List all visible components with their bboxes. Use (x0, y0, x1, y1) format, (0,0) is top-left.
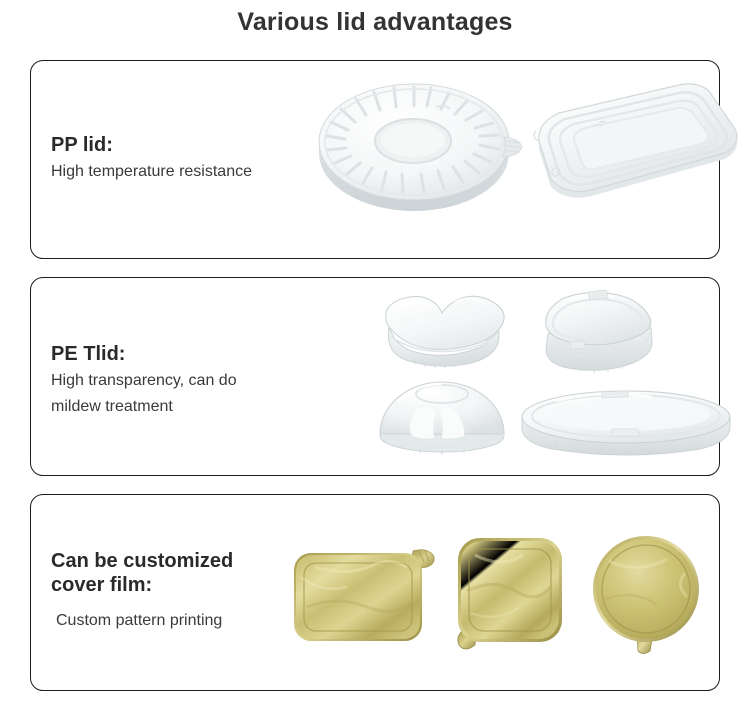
gold-square-foil-lid (453, 533, 578, 658)
card-pp-lid: PP lid: High temperature resistance (30, 60, 720, 259)
square-dome-pe-lid (536, 286, 666, 381)
heart-shaped-pe-lid (379, 288, 509, 378)
gold-round-foil-lid (589, 533, 714, 658)
card-custom-cover-film: Can be customized cover film: Custom pat… (30, 494, 720, 691)
card-pe-lid: PE Tlid: High transparency, can do milde… (30, 277, 720, 476)
gold-rectangular-foil-lid (291, 543, 456, 648)
custom-film-images (261, 495, 719, 690)
page-title: Various lid advantages (0, 8, 750, 37)
oval-flat-pe-lid (516, 383, 736, 458)
pe-lid-images (261, 278, 719, 475)
rectangular-pp-lid (529, 79, 744, 214)
round-dome-pe-lid (376, 376, 511, 456)
pp-lid-images (261, 61, 719, 258)
round-ribbed-pp-lid (316, 73, 536, 218)
